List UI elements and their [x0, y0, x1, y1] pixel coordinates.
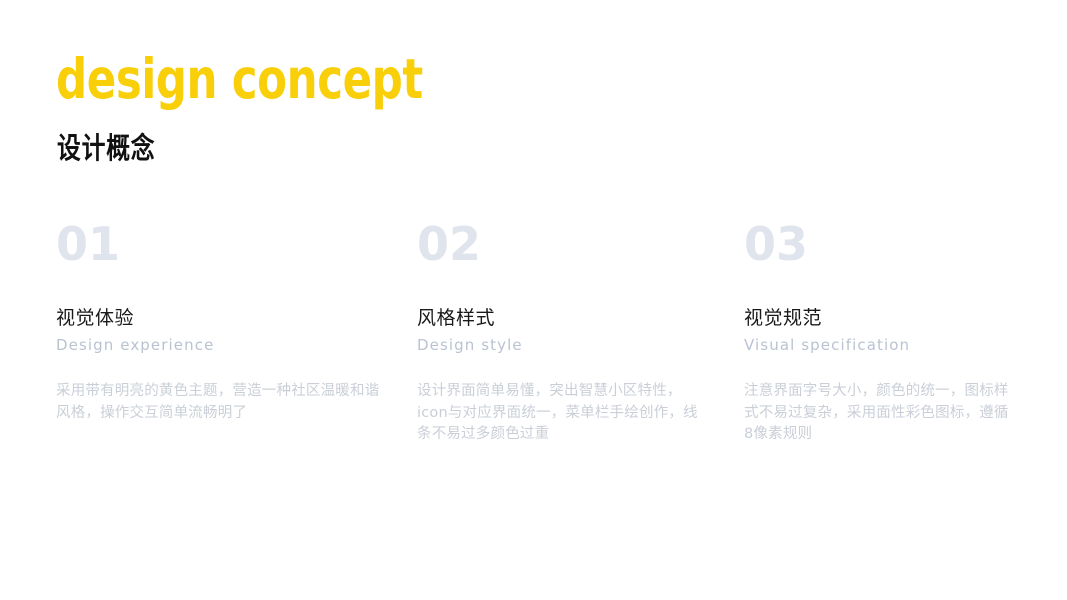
column-body-text-01: 采用带有明亮的黄色主题，营造一种社区温暖和谐风格，操作交互简单流畅明了: [56, 381, 386, 424]
column-heading-chinese-02: 风格样式: [417, 306, 717, 330]
page-title-english: design concept: [56, 50, 672, 108]
column-heading-english-01: Design experience: [56, 336, 396, 355]
column-number-02: 02: [417, 220, 717, 268]
page-title-chinese: 设计概念: [57, 133, 630, 163]
concept-column-02: 02 风格样式 Design style 设计界面简单易懂，突出智慧小区特性，i…: [417, 216, 717, 446]
column-heading-chinese-01: 视觉体验: [56, 306, 396, 330]
column-heading-english-03: Visual specification: [744, 336, 1019, 355]
column-heading-english-02: Design style: [417, 336, 717, 355]
column-number-01: 01: [56, 220, 396, 268]
slide-heading-block: design concept 设计概念: [56, 50, 756, 163]
column-heading-chinese-03: 视觉规范: [744, 306, 1019, 330]
column-body-text-03: 注意界面字号大小，颜色的统一，图标样式不易过复杂，采用面性彩色图标，遵循8像素规…: [744, 381, 1012, 446]
column-body-text-02: 设计界面简单易懂，突出智慧小区特性，icon与对应界面统一，菜单栏手绘创作，线条…: [417, 381, 707, 446]
concept-column-03: 03 视觉规范 Visual specification 注意界面字号大小，颜色…: [744, 216, 1019, 446]
slide-canvas: design concept 设计概念 01 视觉体验 Design exper…: [0, 0, 1067, 600]
concept-columns: 01 视觉体验 Design experience 采用带有明亮的黄色主题，营造…: [0, 216, 1067, 476]
column-number-03: 03: [744, 220, 1019, 268]
concept-column-01: 01 视觉体验 Design experience 采用带有明亮的黄色主题，营造…: [56, 216, 396, 424]
